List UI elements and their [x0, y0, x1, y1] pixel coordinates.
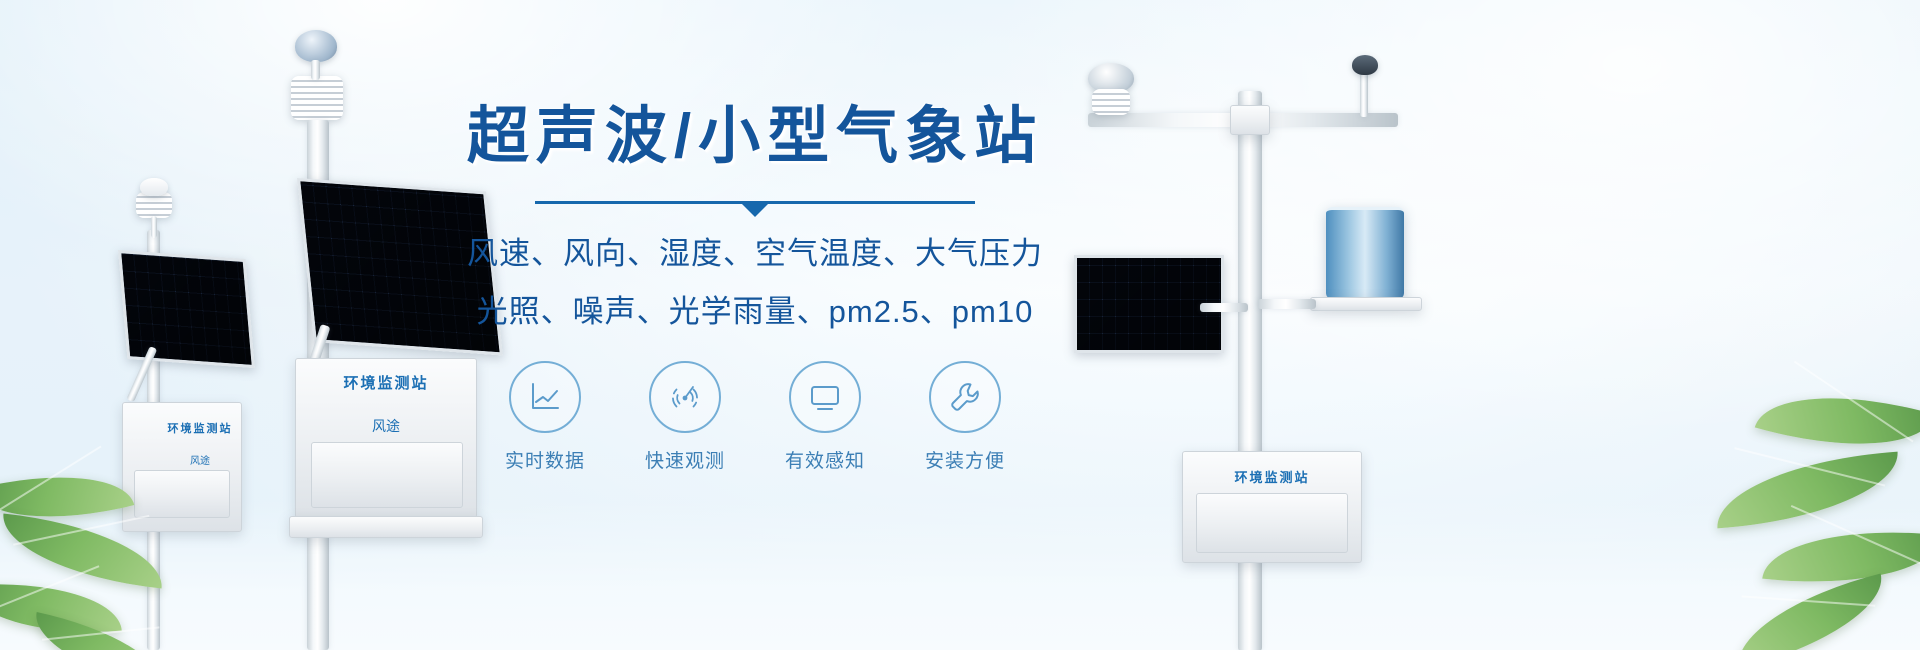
- feature-label: 有效感知: [770, 446, 880, 473]
- sensor-stem-right-end: [1360, 69, 1368, 117]
- cabinet-label-middle: 环境监测站: [295, 372, 477, 393]
- mast-clamp-right: [1230, 105, 1270, 135]
- sensor-dome-left: [140, 178, 168, 196]
- product-banner: 环境监测站 风途 环境监测站 风途: [0, 0, 1920, 650]
- foreground-leaves-left: [0, 430, 210, 650]
- feature-label: 快速观测: [630, 446, 740, 473]
- rain-gauge-shelf-right: [1310, 297, 1422, 311]
- solar-panel-left: [118, 250, 255, 368]
- feature-icon-circle: [929, 361, 1001, 433]
- panel-support-arm-right: [1200, 303, 1248, 312]
- radiation-shield-middle: [291, 76, 343, 120]
- feature-icon-circle: [789, 361, 861, 433]
- optical-rain-sensor-right: [1352, 55, 1378, 75]
- wrench-tool-icon: [946, 378, 984, 416]
- radar-signal-icon: [666, 378, 704, 416]
- weather-station-right: 环境监测站: [1060, 55, 1440, 650]
- feature-item-easy-install[interactable]: 安装方便: [910, 361, 1020, 473]
- cabinet-door-right: [1196, 493, 1348, 553]
- cabinet-label-right: 环境监测站: [1182, 467, 1362, 486]
- cabinet-door-middle: [311, 442, 463, 508]
- banner-text-block: 超声波/小型气象站 风速、风向、湿度、空气温度、大气压力 光照、噪声、光学雨量、…: [455, 104, 1055, 473]
- sensor-stem-left: [151, 216, 157, 238]
- leaf: [0, 514, 168, 589]
- feature-list: 实时数据 快速观测: [455, 361, 1055, 473]
- line-chart-icon: [526, 378, 564, 416]
- subtitle-line-2: 光照、噪声、光学雨量、pm2.5、pm10: [455, 289, 1055, 335]
- rain-gauge-right: [1326, 207, 1404, 299]
- subtitle-line-1: 风速、风向、湿度、空气温度、大气压力: [455, 231, 1055, 277]
- leaf: [1725, 574, 1894, 650]
- feature-item-fast-observation[interactable]: 快速观测: [630, 361, 740, 473]
- foreground-leaves-right: [1660, 380, 1920, 650]
- radiation-shield-right: [1092, 89, 1130, 115]
- feature-label: 实时数据: [490, 446, 600, 473]
- feature-item-realtime-data[interactable]: 实时数据: [490, 361, 600, 473]
- page-title: 超声波/小型气象站: [455, 104, 1055, 171]
- feature-item-effective-sensing[interactable]: 有效感知: [770, 361, 880, 473]
- feature-icon-circle: [509, 361, 581, 433]
- mast-pole-right: [1238, 91, 1262, 650]
- feature-icon-circle: [649, 361, 721, 433]
- leaf: [1713, 452, 1902, 529]
- cabinet-brand-middle: 风途: [295, 416, 477, 436]
- monitor-screen-icon: [806, 378, 844, 416]
- shelf-arm-right: [1258, 299, 1316, 309]
- chevron-down-icon: [742, 204, 768, 217]
- feature-label: 安装方便: [910, 446, 1020, 473]
- ultrasonic-sensor-head-middle: [295, 30, 337, 62]
- sensor-stem-middle: [311, 60, 320, 80]
- title-divider: [535, 197, 975, 219]
- cabinet-base-middle: [289, 516, 483, 538]
